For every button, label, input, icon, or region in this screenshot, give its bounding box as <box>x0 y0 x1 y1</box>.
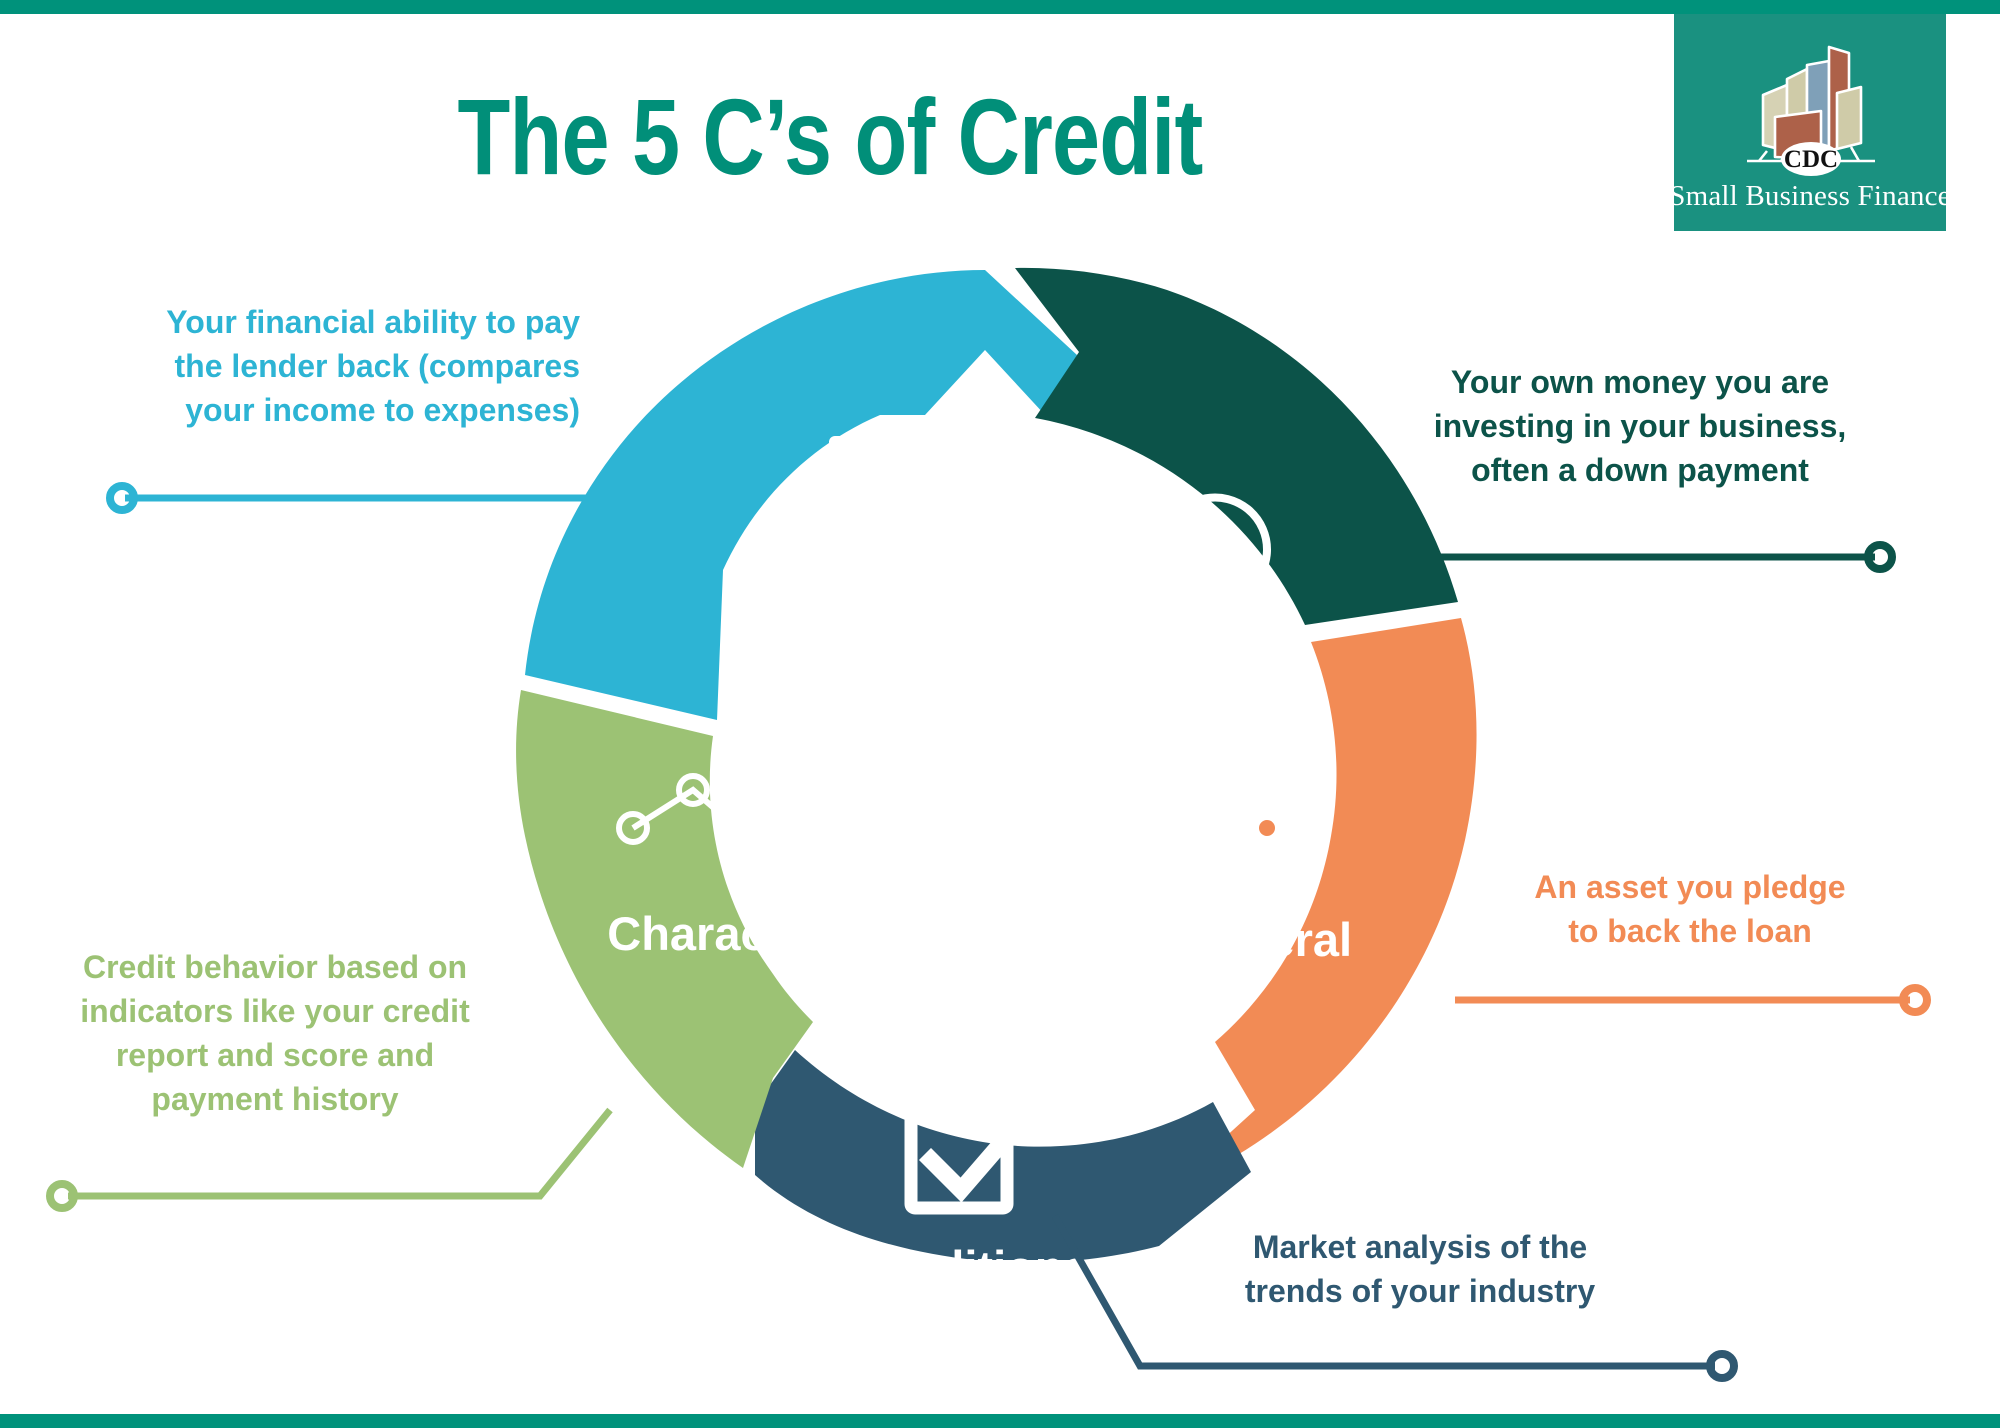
caption-capacity: Your financial ability to pay the lender… <box>80 300 580 432</box>
logo-mark-text: CDC <box>1784 146 1838 173</box>
bottom-accent-bar <box>0 1414 2000 1428</box>
caption-character: Credit behavior based on indicators like… <box>50 945 500 1122</box>
five-cs-donut-chart: $ $ Capacity Capital Collateral Conditio… <box>455 250 1515 1260</box>
speech-bubble-dollar-icon: $ <box>1157 497 1267 601</box>
caption-line: Your financial ability to pay <box>80 300 580 344</box>
connector-collateral <box>1455 988 1927 1012</box>
caption-line: trends of your industry <box>1200 1269 1640 1313</box>
donut-center-hole <box>765 530 1205 970</box>
logo-wordmark: Small Business Finance <box>1669 180 1951 213</box>
caption-line: Credit behavior based on <box>50 945 500 989</box>
logo: CDC Small Business Finance <box>1674 14 1946 231</box>
svg-text:$: $ <box>899 462 928 520</box>
caption-line: indicators like your credit <box>50 989 500 1033</box>
segment-label-character: Character <box>607 907 826 960</box>
banknote-dollar-icon: $ <box>833 440 993 538</box>
caption-line: investing in your business, <box>1390 404 1890 448</box>
segment-label-conditions: Conditions <box>844 1241 1089 1260</box>
caption-collateral: An asset you pledge to back the loan <box>1480 865 1900 953</box>
caption-line: Market analysis of the <box>1200 1225 1640 1269</box>
caption-capital: Your own money you are investing in your… <box>1390 360 1890 492</box>
top-accent-bar <box>0 0 2000 14</box>
page-title: The 5 C’s of Credit <box>166 80 1494 193</box>
caption-line: often a down payment <box>1390 448 1890 492</box>
caption-line: your income to expenses) <box>80 388 580 432</box>
caption-line: report and score and <box>50 1033 500 1077</box>
caption-line: the lender back (compares <box>80 344 580 388</box>
caption-conditions: Market analysis of the trends of your in… <box>1200 1225 1640 1313</box>
segment-label-collateral: Collateral <box>1138 913 1352 966</box>
segment-label-capital: Capital <box>1137 657 1294 710</box>
caption-line: An asset you pledge <box>1480 865 1900 909</box>
segment-label-capacity: Capacity <box>815 619 1011 672</box>
caption-line: payment history <box>50 1077 500 1121</box>
buildings-icon: CDC <box>1725 33 1895 178</box>
caption-line: to back the loan <box>1480 909 1900 953</box>
svg-text:$: $ <box>1199 519 1230 582</box>
caption-line: Your own money you are <box>1390 360 1890 404</box>
